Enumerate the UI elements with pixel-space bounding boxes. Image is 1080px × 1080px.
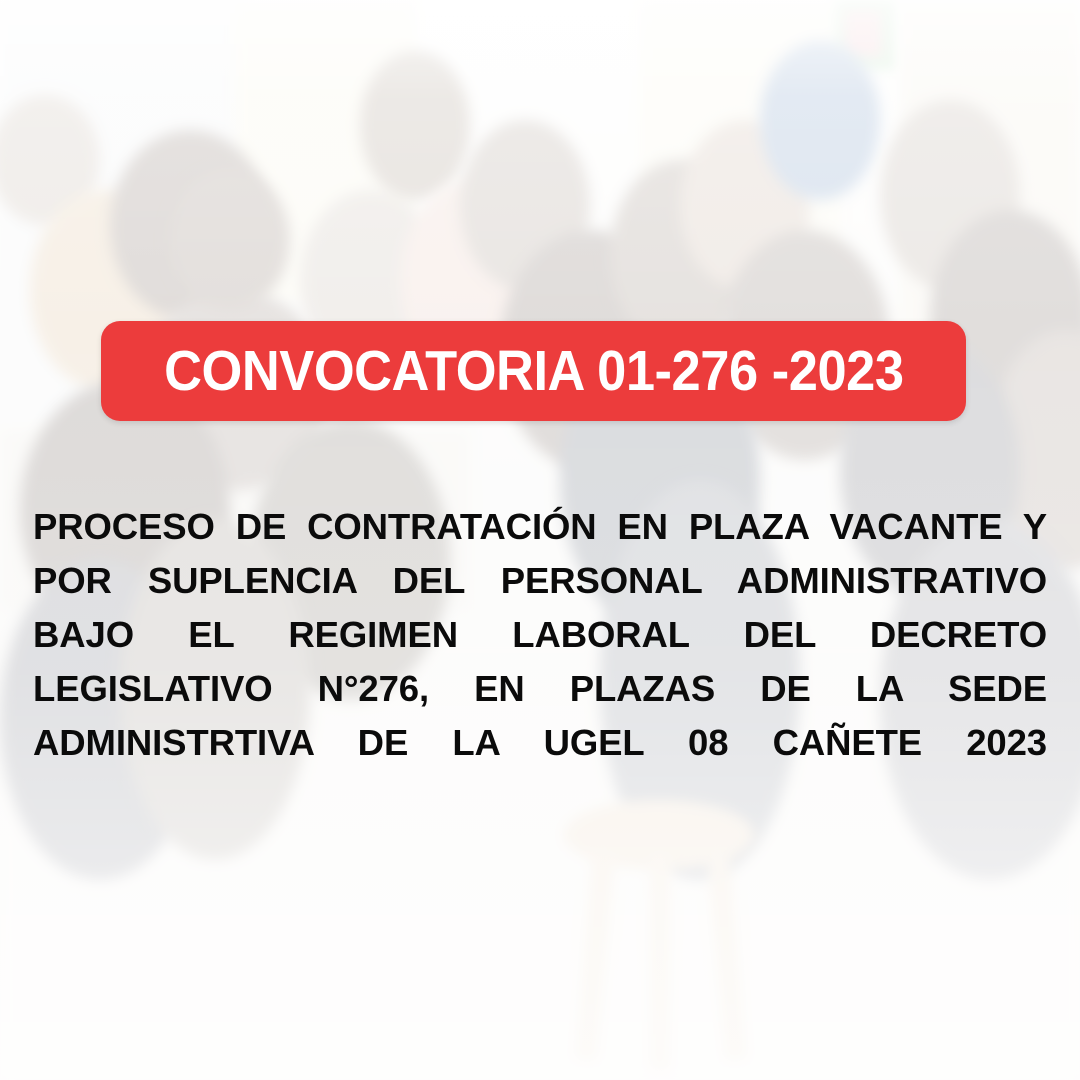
poster: CONVOCATORIA 01-276 -2023 PROCESO DE CON… [0,0,1080,1080]
announcement-body-text: PROCESO DE CONTRATACIÓN EN PLAZA VACANTE… [33,500,1047,824]
footer-logos: PERÚ Ministerio de Educación [0,965,1080,1080]
convocatoria-banner-label: CONVOCATORIA 01-276 -2023 [164,343,903,400]
convocatoria-banner: CONVOCATORIA 01-276 -2023 [101,321,966,421]
